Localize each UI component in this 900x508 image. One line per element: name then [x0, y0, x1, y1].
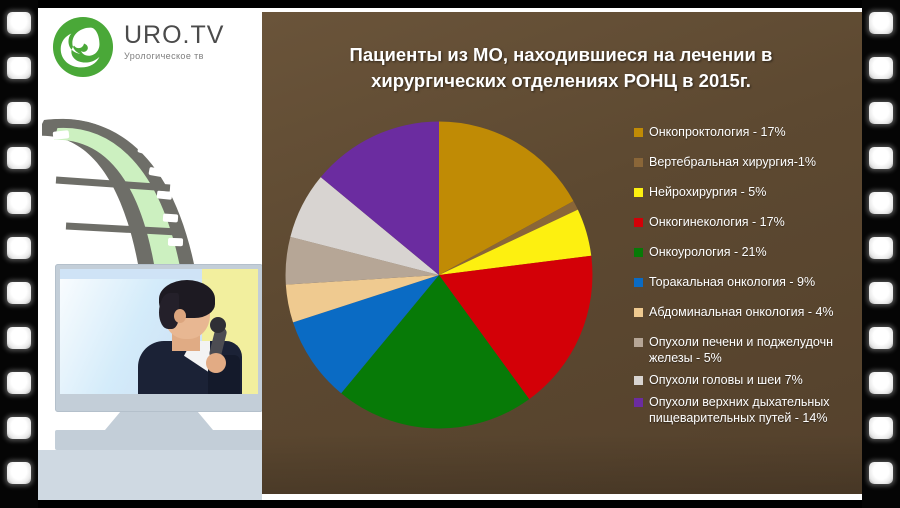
legend-item-label: Онкопроктология - 17% [649, 124, 786, 140]
legend-item-label: Торакальная онкология - 9% [649, 274, 815, 290]
logo-text: URO.TV Урологическое тв [124, 22, 224, 61]
bottom-letterbox-bar [0, 500, 900, 508]
legend-item[interactable]: Онкогинекология - 17% [634, 214, 862, 230]
brand-tagline: Урологическое тв [124, 51, 224, 61]
branding-panel: URO.TV Урологическое тв [38, 0, 262, 508]
video-player-frame: URO.TV Урологическое тв [0, 0, 900, 508]
monitor-icon [55, 264, 262, 450]
pie-chart [284, 120, 614, 450]
legend-item-label: Вертебральная хирургия-1% [649, 154, 816, 170]
legend-item[interactable]: Онкопроктология - 17% [634, 124, 862, 140]
film-sprocket-hole [7, 327, 31, 349]
brand-name: URO.TV [124, 22, 224, 48]
legend-item-label: Онкогинекология - 17% [649, 214, 785, 230]
legend-color-swatch [634, 376, 643, 385]
film-sprocket-hole [7, 192, 31, 214]
speaker-with-microphone-icon [60, 269, 258, 394]
film-sprocket-hole [869, 192, 893, 214]
legend-item[interactable]: Торакальная онкология - 9% [634, 274, 862, 290]
legend-item[interactable]: Опухоли головы и шеи 7% [634, 372, 862, 388]
film-strip-left [0, 0, 38, 508]
top-letterbox-bar [0, 0, 900, 8]
legend-color-swatch [634, 278, 643, 287]
legend-item-label: Опухоли головы и шеи 7% [649, 372, 803, 388]
legend-item[interactable]: Вертебральная хирургия-1% [634, 154, 862, 170]
film-sprocket-hole [869, 372, 893, 394]
legend-color-swatch [634, 308, 643, 317]
film-sprocket-hole [7, 12, 31, 34]
film-sprocket-hole [869, 147, 893, 169]
legend-item-label-line-2: пищеварительных путей - 14% [649, 410, 830, 426]
film-sprocket-hole [7, 102, 31, 124]
film-sprocket-hole [869, 57, 893, 79]
pie-chart-svg [284, 120, 594, 430]
legend-item-label: Онкоурология - 21% [649, 244, 767, 260]
film-sprocket-hole [7, 417, 31, 439]
page-title: Пациенты из МО, находившиеся на лечении … [296, 42, 826, 94]
film-sprocket-hole [7, 462, 31, 484]
slide-title-line-2: хирургических отделениях РОНЦ в 2015г. [371, 70, 751, 91]
legend-color-swatch [634, 398, 643, 407]
film-sprocket-hole [869, 237, 893, 259]
film-sprocket-hole [869, 12, 893, 34]
film-sprocket-hole [7, 237, 31, 259]
legend-item-label: Опухоли верхних дыхательныхпищеварительн… [649, 394, 830, 426]
legend-color-swatch [634, 248, 643, 257]
legend-item-label-line-2: железы - 5% [649, 350, 833, 366]
film-sprocket-hole [869, 282, 893, 304]
legend-color-swatch [634, 128, 643, 137]
film-strip-right [862, 0, 900, 508]
film-sprocket-hole [7, 282, 31, 304]
legend-item[interactable]: Нейрохирургия - 5% [634, 184, 862, 200]
legend-color-swatch [634, 188, 643, 197]
film-sprocket-hole [7, 372, 31, 394]
film-sprocket-hole [869, 327, 893, 349]
film-sprocket-hole [7, 147, 31, 169]
presentation-slide: Пациенты из МО, находившиеся на лечении … [262, 12, 862, 494]
slide-title-line-1: Пациенты из МО, находившиеся на лечении … [350, 44, 773, 65]
legend-item[interactable]: Онкоурология - 21% [634, 244, 862, 260]
film-sprocket-hole [7, 57, 31, 79]
slide-vignette [262, 434, 862, 494]
legend-item-label: Абдоминальная онкология - 4% [649, 304, 834, 320]
legend-item-label: Нейрохирургия - 5% [649, 184, 766, 200]
legend-color-swatch [634, 218, 643, 227]
chart-legend: Онкопроктология - 17%Вертебральная хирур… [634, 124, 862, 440]
logo[interactable]: URO.TV Урологическое тв [52, 14, 252, 92]
legend-item[interactable]: Опухоли печени и поджелудочнжелезы - 5% [634, 334, 862, 366]
film-sprocket-hole [869, 462, 893, 484]
film-sprocket-hole [869, 102, 893, 124]
legend-item[interactable]: Опухоли верхних дыхательныхпищеварительн… [634, 394, 862, 426]
uro-swirl-logo-icon [52, 16, 114, 78]
legend-color-swatch [634, 338, 643, 347]
film-strip-icon [42, 96, 242, 264]
legend-item-label: Опухоли печени и поджелудочнжелезы - 5% [649, 334, 833, 366]
legend-color-swatch [634, 158, 643, 167]
film-sprocket-hole [869, 417, 893, 439]
legend-item[interactable]: Абдоминальная онкология - 4% [634, 304, 862, 320]
